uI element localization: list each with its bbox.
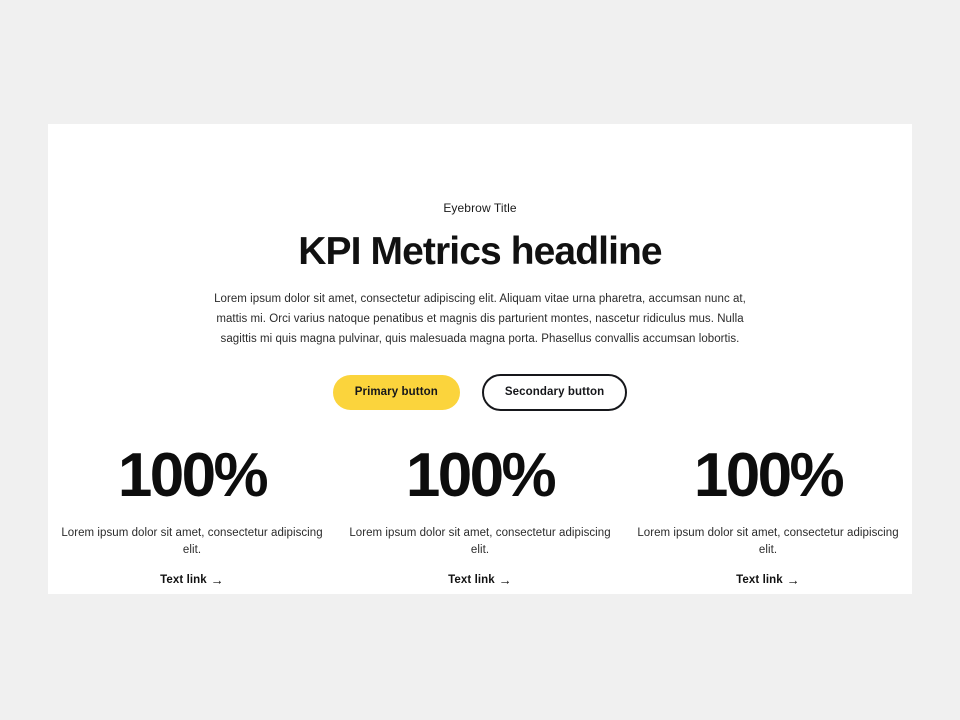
page-root: Eyebrow Title KPI Metrics headline Lorem… — [0, 0, 960, 720]
kpi-value: 100% — [632, 445, 904, 507]
eyebrow-title: Eyebrow Title — [48, 200, 912, 217]
arrow-right-icon: → — [787, 574, 800, 587]
kpi-item: 100% Lorem ipsum dolor sit amet, consect… — [624, 445, 912, 588]
kpi-description: Lorem ipsum dolor sit amet, consectetur … — [632, 525, 904, 560]
arrow-right-icon: → — [211, 574, 224, 587]
page-title: KPI Metrics headline — [48, 230, 912, 274]
kpi-item: 100% Lorem ipsum dolor sit amet, consect… — [48, 445, 336, 588]
kpi-text-link[interactable]: Text link → — [160, 573, 224, 586]
kpi-text-link[interactable]: Text link → — [448, 573, 512, 586]
kpi-text-link[interactable]: Text link → — [736, 573, 800, 586]
kpi-item: 100% Lorem ipsum dolor sit amet, consect… — [336, 445, 624, 588]
kpi-text-link-label: Text link — [448, 574, 495, 586]
kpi-text-link-label: Text link — [160, 574, 207, 586]
secondary-button[interactable]: Secondary button — [482, 374, 627, 411]
arrow-right-icon: → — [499, 574, 512, 587]
cta-button-row: Primary button Secondary button — [48, 374, 912, 411]
kpi-description: Lorem ipsum dolor sit amet, consectetur … — [344, 525, 616, 560]
kpi-columns: 100% Lorem ipsum dolor sit amet, consect… — [48, 445, 912, 588]
kpi-description: Lorem ipsum dolor sit amet, consectetur … — [56, 525, 328, 560]
hero-section: Eyebrow Title KPI Metrics headline Lorem… — [48, 124, 912, 411]
kpi-value: 100% — [344, 445, 616, 507]
kpi-metrics-card: Eyebrow Title KPI Metrics headline Lorem… — [48, 124, 912, 594]
primary-button[interactable]: Primary button — [333, 375, 460, 410]
kpi-value: 100% — [56, 445, 328, 507]
kpi-text-link-label: Text link — [736, 574, 783, 586]
hero-description: Lorem ipsum dolor sit amet, consectetur … — [202, 290, 758, 349]
